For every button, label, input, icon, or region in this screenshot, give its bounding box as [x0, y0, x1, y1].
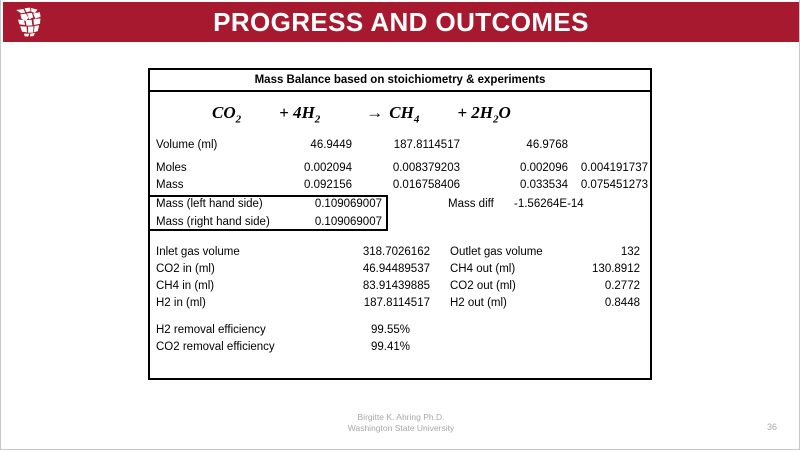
mass-diff-label: Mass diff [448, 198, 514, 210]
table-row: Mass 0.092156 0.016758406 0.033534 0.075… [150, 176, 650, 193]
row-label-left: Inlet gas volume [150, 246, 320, 258]
row-h2-in: 0.008379203 [352, 162, 460, 174]
table-row: Mass (left hand side) 0.109069007 Mass d… [150, 195, 650, 213]
equation-reactant-1-sub: 2 [236, 113, 242, 125]
row-ch4-out: 46.9768 [498, 139, 568, 151]
row-label-right: CH4 out (ml) [450, 263, 560, 275]
row-label: Mass [150, 179, 260, 191]
mass-balance-block: Mass (left hand side) 0.109069007 Mass d… [150, 195, 650, 231]
row-h2-in: 187.8114517 [352, 139, 460, 151]
equation-product-1-sub: 4 [414, 113, 420, 125]
footer-institution: Washington State University [1, 423, 800, 434]
equation-product-2-h: H [480, 103, 493, 122]
efficiency-value: 99.55% [320, 324, 410, 336]
page-number: 36 [767, 422, 777, 432]
equation-reactant-2-sub: 2 [315, 113, 321, 125]
equation-reactant-2: + 4H2 [279, 103, 320, 125]
equation-reactant-1-text: CO [212, 103, 236, 122]
mass-diff-value: -1.56264E-14 [514, 198, 624, 210]
row-value-left: 46.94489537 [320, 263, 430, 275]
row-value-right: 130.8912 [560, 263, 644, 275]
table-row: Volume (ml) 46.9449 187.8114517 46.9768 [150, 136, 650, 153]
equation-reactant-1: CO2 [212, 103, 241, 125]
row-co2-in: 46.9449 [260, 139, 352, 151]
slide-footer: Birgitte K. Ahring Ph.D. Washington Stat… [1, 412, 800, 434]
table-row: Mass (right hand side) 0.109069007 [150, 213, 650, 231]
row-label-right: CO2 out (ml) [450, 280, 560, 292]
efficiency-value: 99.41% [320, 341, 410, 353]
mass-balance-table: Mass Balance based on stoichiometry & ex… [148, 68, 652, 380]
equation-plus-2: + 2 [457, 103, 479, 122]
row-value-right: 132 [560, 246, 644, 258]
row-ch4-out: 0.002096 [498, 162, 568, 174]
equation-product-2-o: O [499, 103, 511, 122]
table-row: CO2 removal efficiency 99.41% [150, 338, 650, 355]
slide-header-bar: PROGRESS AND OUTCOMES [3, 2, 799, 42]
equation-reactant-2-text: H [302, 103, 315, 122]
row-label-right: H2 out (ml) [450, 297, 560, 309]
wsu-cougar-logo-icon [3, 2, 55, 42]
row-ch4-out: 0.033534 [498, 179, 568, 191]
row-h2o-out: 0.075451273 [568, 179, 648, 191]
row-label-left: CH4 in (ml) [150, 280, 320, 292]
mass-rhs-label: Mass (right hand side) [150, 216, 300, 228]
equation-product-2: + 2H2O [457, 103, 510, 125]
equation-product-1-text: CH [389, 103, 414, 122]
reaction-equation: CO2 + 4H2 → CH4 + 2H2O [212, 103, 511, 125]
mass-rhs-value: 0.109069007 [300, 216, 386, 228]
table-row: CH4 in (ml) 83.91439885 CO2 out (ml) 0.2… [150, 277, 650, 294]
table-row: H2 removal efficiency 99.55% [150, 321, 650, 338]
equation-plus-1: + 4 [279, 103, 301, 122]
slide-title: PROGRESS AND OUTCOMES [55, 7, 799, 38]
table-row: CO2 in (ml) 46.94489537 CH4 out (ml) 130… [150, 260, 650, 277]
row-label: Moles [150, 162, 260, 174]
stoichiometry-equation-row: CO2 + 4H2 → CH4 + 2H2O [150, 92, 650, 136]
row-label-right: Outlet gas volume [450, 246, 560, 258]
efficiency-label: CO2 removal efficiency [150, 341, 320, 353]
equation-product-1: CH4 [389, 103, 419, 125]
row-value-left: 187.8114517 [320, 297, 430, 309]
row-value-left: 83.91439885 [320, 280, 430, 292]
row-value-left: 318.7026162 [320, 246, 430, 258]
slide-canvas: PROGRESS AND OUTCOMES Mass Balance based… [0, 0, 800, 450]
table-title: Mass Balance based on stoichiometry & ex… [150, 70, 650, 92]
efficiency-label: H2 removal efficiency [150, 324, 320, 336]
row-label-left: CO2 in (ml) [150, 263, 320, 275]
row-label: Volume (ml) [150, 139, 260, 151]
mass-lhs-label: Mass (left hand side) [150, 198, 300, 210]
table-body: Volume (ml) 46.9449 187.8114517 46.9768 … [150, 136, 650, 355]
row-value-right: 0.2772 [560, 280, 644, 292]
equation-arrow-icon: → [366, 103, 389, 123]
row-co2-in: 0.002094 [260, 162, 352, 174]
row-spacer [150, 311, 650, 321]
mass-lhs-value: 0.109069007 [300, 198, 386, 210]
table-row: Inlet gas volume 318.7026162 Outlet gas … [150, 243, 650, 260]
row-label-left: H2 in (ml) [150, 297, 320, 309]
row-co2-in: 0.092156 [260, 179, 352, 191]
row-h2-in: 0.016758406 [352, 179, 460, 191]
table-row: H2 in (ml) 187.8114517 H2 out (ml) 0.844… [150, 294, 650, 311]
row-h2o-out: 0.004191737 [568, 162, 648, 174]
table-row: Moles 0.002094 0.008379203 0.002096 0.00… [150, 159, 650, 176]
row-spacer [150, 231, 650, 243]
row-value-right: 0.8448 [560, 297, 644, 309]
footer-author: Birgitte K. Ahring Ph.D. [1, 412, 800, 423]
